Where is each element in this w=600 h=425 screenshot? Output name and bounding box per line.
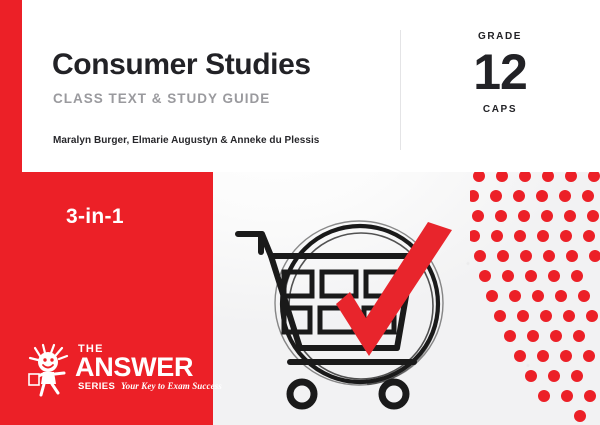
logo-tagline: Your Key to Exam Success [121,382,222,391]
cart-wheels [290,382,406,406]
authors-line: Maralyn Burger, Elmarie Augustyn & Annek… [53,136,319,146]
subtitle: CLASS TEXT & STUDY GUIDE [53,92,270,106]
format-badge: 3-in-1 [66,206,124,227]
grade-badge: GRADE 12 CAPS [430,32,570,115]
red-dot-pattern [470,172,600,425]
logo-answer-text: ANSWER [75,354,193,381]
publisher-logo: THE ANSWER SERIES Your Key to Exam Succe… [22,341,207,399]
grade-label: GRADE [430,32,570,42]
book-cover: Consumer Studies CLASS TEXT & STUDY GUID… [0,0,600,425]
student-mascot-icon [26,343,74,397]
grade-number: 12 [430,47,570,98]
header-divider [400,30,401,150]
curriculum-label: CAPS [430,105,570,115]
page-title: Consumer Studies [52,50,311,80]
shopping-cart-with-checkmark-illustration [214,196,470,418]
logo-series-text: SERIES [78,382,115,392]
